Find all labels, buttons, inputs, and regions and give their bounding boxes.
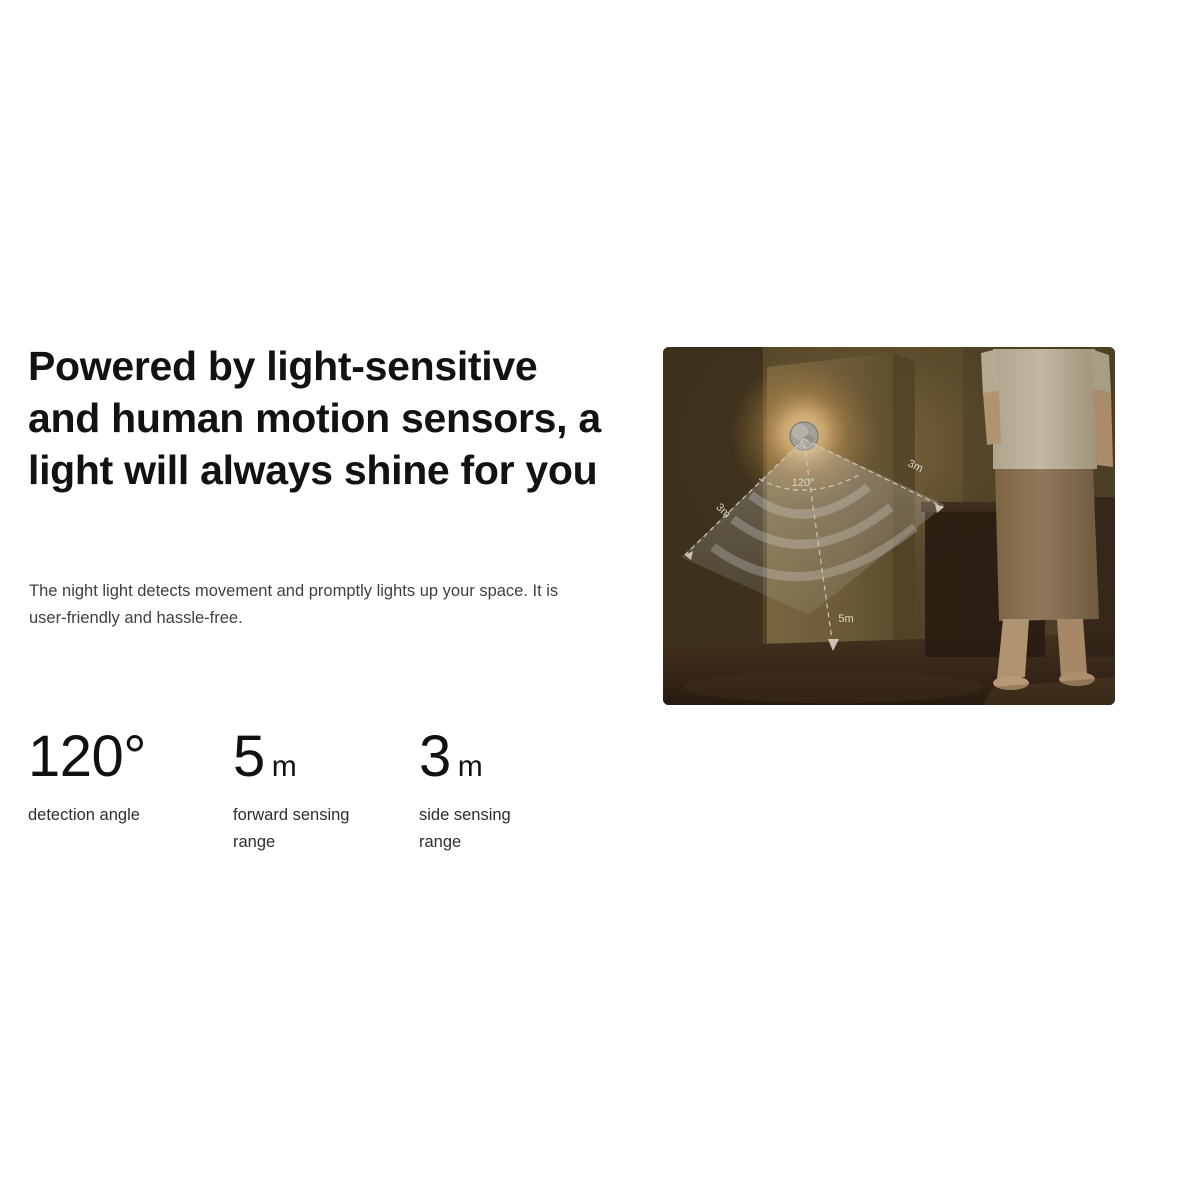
product-feature-page: Powered by light-sensitive and human mot… [0,0,1200,1200]
page-title: Powered by light-sensitive and human mot… [28,340,603,496]
feature-description: The night light detects movement and pro… [29,578,569,632]
stat-unit: m [272,752,297,782]
feature-text-column: Powered by light-sensitive and human mot… [28,340,613,496]
stat-detection-angle: 120° detection angle [28,728,233,829]
stat-side-range: 3 m side sensing range [419,728,599,856]
stat-value: 5 m [233,728,419,790]
stat-label: forward sensing range [233,802,383,856]
stat-number: 120° [28,728,146,786]
stat-number: 3 [419,728,451,786]
stat-label: side sensing range [419,802,549,856]
stat-value: 3 m [419,728,599,790]
product-photo: 120° 3m 3m 5m [663,347,1115,705]
stat-label: detection angle [28,802,178,829]
stat-unit: m [458,752,483,782]
stat-number: 5 [233,728,265,786]
spec-stats-row: 120° detection angle 5 m forward sensing… [28,728,599,856]
stat-value: 120° [28,728,233,790]
stat-forward-range: 5 m forward sensing range [233,728,419,856]
photo-vignette [663,347,1115,705]
